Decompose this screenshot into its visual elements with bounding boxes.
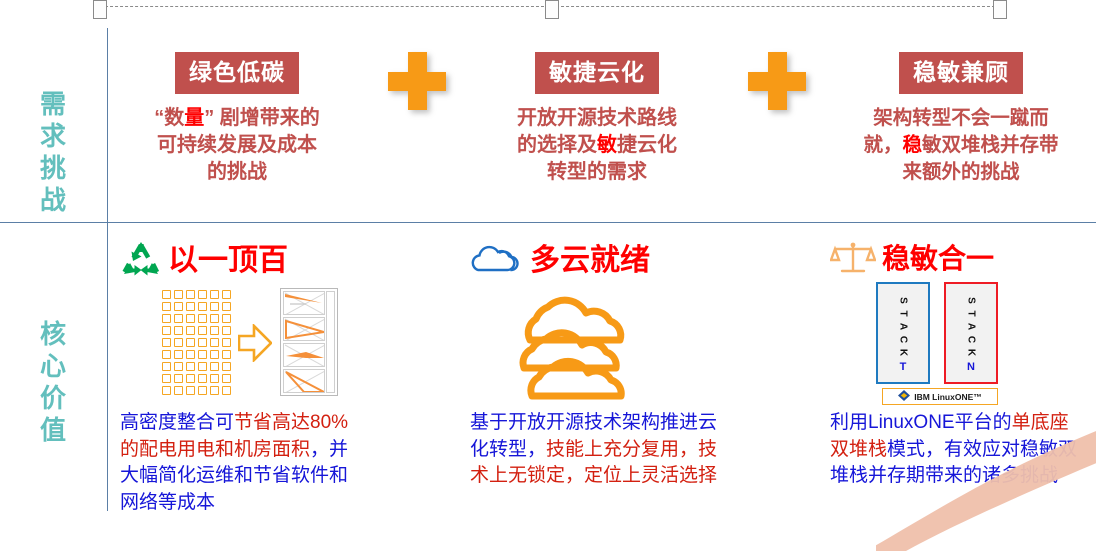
server-unit-icon [174, 350, 183, 359]
server-unit-icon [198, 362, 207, 371]
row-label-char: 值 [22, 414, 84, 446]
challenge-badge-1: 绿色低碳 [175, 52, 299, 94]
server-unit-icon [174, 362, 183, 371]
value-card-2[interactable]: 多云就绪 基于开放开源技术架构推进云化转型，技能上充分复用，技术上无锁定，定位上… [470, 240, 720, 282]
server-unit-icon [222, 302, 231, 311]
stack-box-t-tag: T [878, 361, 928, 373]
challenge-card-1[interactable]: 绿色低碳 “数量” 剧增带来的可持续发展及成本的挑战 [152, 52, 322, 186]
row-label-challenges: 需求挑战 [22, 88, 84, 216]
server-unit-icon [162, 350, 171, 359]
challenge-badge-3: 稳敏兼顾 [899, 52, 1023, 94]
plus-operator-icon-2 [748, 52, 806, 110]
server-unit-icon [174, 386, 183, 395]
server-unit-icon [186, 314, 195, 323]
server-unit-icon [222, 326, 231, 335]
row-label-char: 心 [22, 350, 84, 382]
server-unit-icon [186, 326, 195, 335]
server-unit-icon [162, 314, 171, 323]
server-unit-icon [222, 374, 231, 383]
dual-stack-illustration: STACK T STACK N IBM LinuxONE™ [876, 282, 1036, 408]
text-run: 稳 [902, 134, 922, 156]
value-card-1-text: 高密度整合可节省高达80%的配电用电和机房面积，并大幅简化运维和节省软件和网络等… [120, 410, 355, 516]
server-unit-icon [222, 386, 231, 395]
text-run: 敏 [597, 134, 617, 156]
value-card-3-header: 稳敏合一 [830, 238, 1080, 280]
value-card-2-text: 基于开放开源技术架构推进云化转型，技能上充分复用，技术上无锁定，定位上灵活选择 [470, 410, 720, 490]
server-unit-icon [162, 362, 171, 371]
challenge-body-1: “数量” 剧增带来的可持续发展及成本的挑战 [152, 105, 322, 186]
server-unit-icon [186, 374, 195, 383]
server-rack-icon [280, 288, 338, 396]
server-unit-icon [198, 386, 207, 395]
server-unit-icon [174, 326, 183, 335]
ibm-linuxone-logo-icon [898, 388, 910, 406]
cloud-icon [470, 242, 524, 281]
server-unit-icon [222, 290, 231, 299]
server-unit-icon [222, 350, 231, 359]
text-run: 高密度整合可 [120, 412, 234, 433]
server-unit-icon [162, 302, 171, 311]
row-label-char: 战 [22, 184, 84, 216]
vertical-divider [107, 28, 108, 511]
server-unit-icon [210, 290, 219, 299]
text-run: 敏双堆栈并存带来额外的挑战 [902, 134, 1058, 183]
multicloud-stack-illustration [502, 284, 682, 404]
stack-box-n-tag: N [946, 361, 996, 373]
arrow-right-icon [238, 324, 272, 367]
stack-box-t-letters: STACK [878, 294, 928, 359]
server-unit-icon [174, 314, 183, 323]
text-run: 量 [184, 107, 204, 129]
server-unit-icon [198, 374, 207, 383]
value-card-2-title: 多云就绪 [530, 246, 650, 276]
server-unit-icon [210, 374, 219, 383]
row-label-char: 求 [22, 120, 84, 152]
value-card-3-text: 利用LinuxONE平台的单底座双堆栈模式，有效应对稳敏双堆栈并存期带来的诸多挑… [830, 410, 1080, 490]
balance-scale-icon [830, 239, 876, 280]
row-label-core-value: 核心价值 [22, 318, 84, 446]
server-unit-icon [186, 290, 195, 299]
value-card-2-header: 多云就绪 [470, 240, 720, 282]
server-unit-icon [186, 362, 195, 371]
selection-handle-right[interactable] [993, 0, 1007, 19]
slide-canvas: 需求挑战 核心价值 绿色低碳 “数量” 剧增带来的可持续发展及成本的挑战 敏捷云… [0, 0, 1096, 511]
server-unit-icon [222, 362, 231, 371]
challenge-card-3[interactable]: 稳敏兼顾 架构转型不会一蹴而就，稳敏双堆栈并存带来额外的挑战 [862, 52, 1060, 186]
server-unit-icon [174, 302, 183, 311]
challenge-body-3: 架构转型不会一蹴而就，稳敏双堆栈并存带来额外的挑战 [862, 105, 1060, 186]
server-unit-icon [162, 326, 171, 335]
server-unit-icon [198, 326, 207, 335]
server-unit-icon [222, 338, 231, 347]
server-unit-icon [198, 290, 207, 299]
challenge-card-2[interactable]: 敏捷云化 开放开源技术路线的选择及敏捷云化转型的需求 [512, 52, 682, 186]
linuxone-label: IBM LinuxONE™ [914, 392, 982, 402]
text-run: “数 [154, 107, 184, 129]
selection-handle-middle[interactable] [545, 0, 559, 19]
server-grid-icon [162, 290, 233, 397]
server-unit-icon [210, 350, 219, 359]
server-unit-icon [198, 350, 207, 359]
horizontal-divider [0, 222, 1096, 223]
server-unit-icon [222, 314, 231, 323]
server-unit-icon [210, 314, 219, 323]
row-label-char: 核 [22, 318, 84, 350]
server-unit-icon [174, 338, 183, 347]
value-card-3[interactable]: 稳敏合一 STACK T STACK N [830, 238, 1080, 280]
server-unit-icon [210, 386, 219, 395]
server-unit-icon [210, 326, 219, 335]
stack-box-t: STACK T [876, 282, 930, 384]
challenge-badge-2: 敏捷云化 [535, 52, 659, 94]
server-unit-icon [186, 302, 195, 311]
row-label-char: 挑 [22, 152, 84, 184]
value-card-1-title: 以一顶百 [168, 246, 288, 276]
server-unit-icon [162, 290, 171, 299]
recycle-icon [120, 240, 162, 283]
server-unit-icon [174, 374, 183, 383]
server-unit-icon [186, 350, 195, 359]
row-label-char: 价 [22, 382, 84, 414]
server-unit-icon [210, 302, 219, 311]
server-unit-icon [186, 386, 195, 395]
value-card-3-title: 稳敏合一 [882, 244, 994, 274]
row-label-char: 需 [22, 88, 84, 120]
text-run: 利用LinuxONE平台的 [830, 412, 1012, 433]
server-consolidation-illustration [162, 288, 322, 398]
server-unit-icon [210, 362, 219, 371]
server-unit-icon [162, 386, 171, 395]
stack-box-n-letters: STACK [946, 294, 996, 359]
linuxone-platform-bar: IBM LinuxONE™ [882, 388, 998, 405]
server-unit-icon [174, 290, 183, 299]
server-unit-icon [198, 314, 207, 323]
challenge-body-2: 开放开源技术路线的选择及敏捷云化转型的需求 [512, 105, 682, 186]
plus-operator-icon-1 [388, 52, 446, 110]
server-unit-icon [198, 338, 207, 347]
server-unit-icon [162, 338, 171, 347]
server-unit-icon [162, 374, 171, 383]
stack-box-n: STACK N [944, 282, 998, 384]
server-unit-icon [198, 302, 207, 311]
value-card-1-header: 以一顶百 [120, 240, 350, 282]
server-unit-icon [210, 338, 219, 347]
server-unit-icon [186, 338, 195, 347]
value-card-1[interactable]: 以一顶百 [120, 240, 350, 282]
selection-handle-left[interactable] [93, 0, 107, 19]
